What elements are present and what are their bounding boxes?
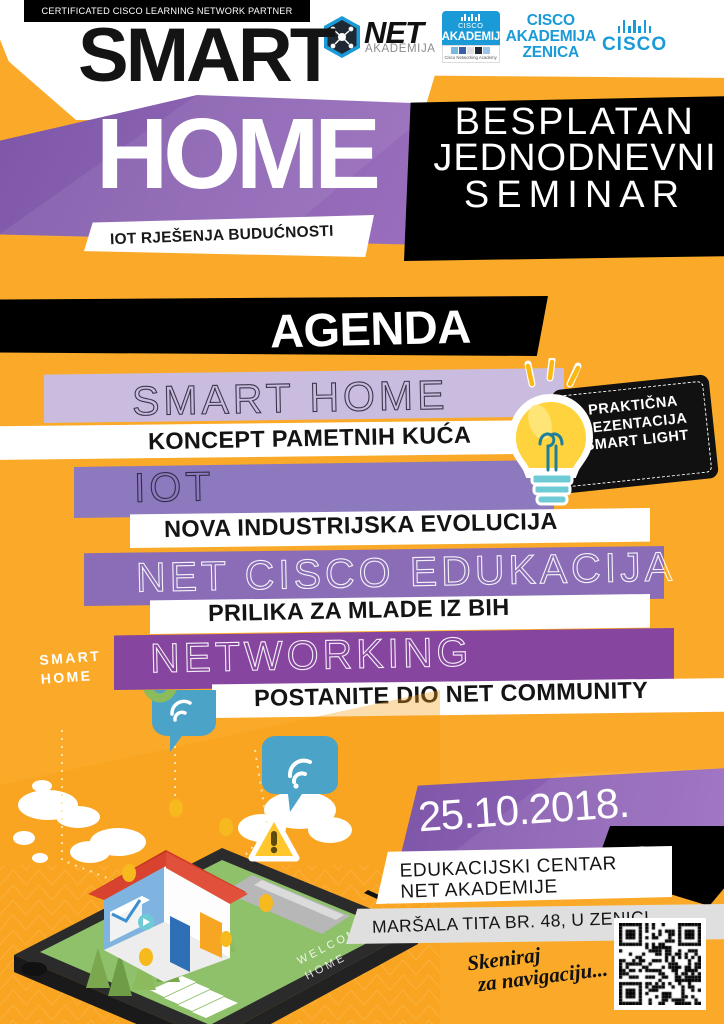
logo-strip: NET AKADEMIJA CISCO AKADEMIJA Cisco Netw… [312,0,724,78]
title-home: HOME [96,104,376,204]
qr-code[interactable] [614,918,706,1010]
cisco-akademija-badge: CISCO AKADEMIJA Cisco Networking Academy [442,11,500,62]
cisco-badge-footnote: Cisco Networking Academy [444,55,496,60]
qr-code-canvas [619,923,701,1005]
cisco-logo: CISCO [602,18,667,56]
event-type-line1: BESPLATAN [430,104,720,140]
event-type-line2: JEDNODNEVNI [430,140,720,176]
net-logo-primary: NET [364,20,436,45]
venue-text: EDUKACIJSKI CENTAR NET AKADEMIJE [399,853,618,903]
academy-partner-squares-icon [443,47,499,54]
agenda-row-4-title: NETWORKING [150,629,473,683]
event-type-text: BESPLATAN JEDNODNEVNI SEMINAR [430,104,720,213]
lightbulb-icon [496,358,724,518]
cisco-bars-icon [442,13,500,21]
agenda-row-2-title: IOT [134,463,215,512]
agenda-row-1-title: SMART HOME [132,372,449,426]
net-akademija-logo: NET AKADEMIJA [322,15,436,59]
caz-line2: AKADEMIJA [506,29,596,45]
poster-canvas: CERTIFICATED CISCO LEARNING NETWORK PART… [0,0,724,1024]
event-type-line3: SEMINAR [430,177,720,213]
cisco-badge-footnote-block: Cisco Networking Academy [442,45,500,62]
cisco-badge-secondary: AKADEMIJA [442,31,500,45]
caz-line3: ZENICA [506,45,596,61]
cisco-badge-primary: CISCO [442,21,500,30]
net-logo-secondary: AKADEMIJA [365,45,436,54]
title-smart: SMART [78,18,333,94]
smart-home-illustration [0,690,440,1024]
cisco-akademija-zenica-logo: CISCO AKADEMIJA ZENICA [506,13,596,60]
illustration-smart-home-tag: SMART HOME [39,645,125,689]
caz-line1: CISCO [506,13,596,29]
cisco-wordmark: CISCO [602,34,667,56]
cisco-bridge-icon [602,18,667,33]
agenda-heading: AGENDA [269,299,471,359]
